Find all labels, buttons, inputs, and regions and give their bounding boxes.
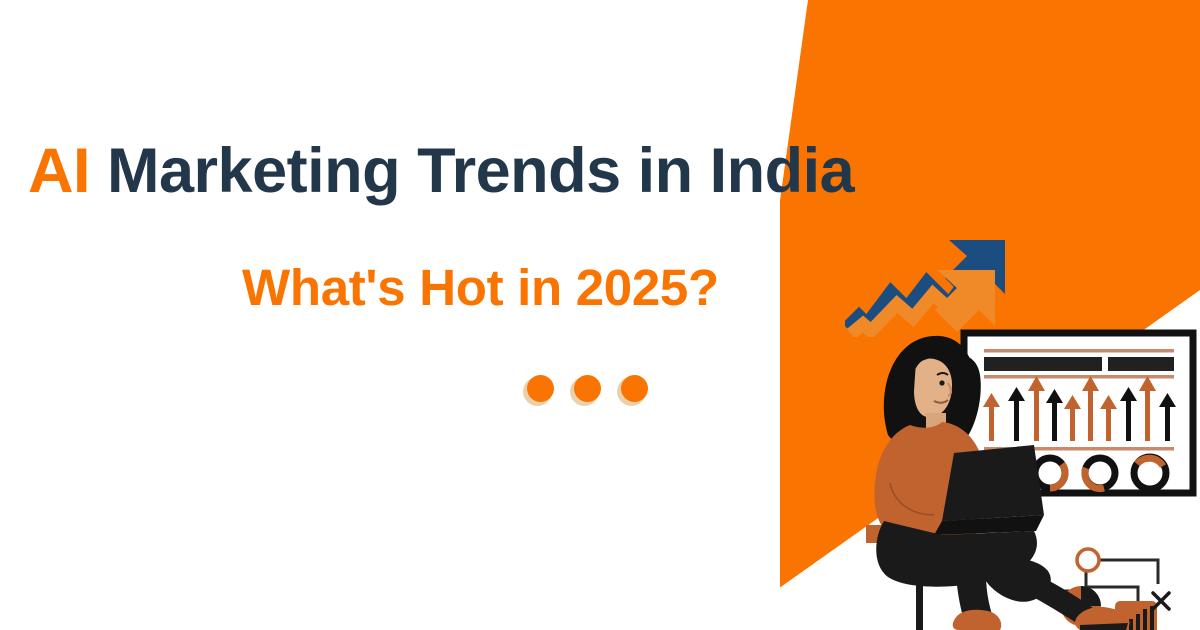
woman-with-laptop-illustration	[838, 325, 1200, 630]
title-rest: Marketing Trends in India	[107, 136, 854, 206]
shoe-icon	[953, 607, 1130, 630]
page-subtitle: What's Hot in 2025?	[242, 262, 719, 313]
rising-trend-arrows-icon	[845, 232, 1010, 337]
poster-canvas: AI Marketing Trends in India What's Hot …	[0, 0, 1200, 630]
title-accent-ai: AI	[28, 136, 90, 206]
dot-icon-3	[619, 375, 648, 404]
dot-icon-2	[572, 375, 601, 404]
circle-outline-icon	[1077, 549, 1099, 571]
dot-icon-1	[525, 375, 554, 404]
page-title: AI Marketing Trends in India	[28, 140, 854, 203]
decorative-dots	[525, 375, 648, 404]
close-x-icon	[1153, 593, 1169, 609]
title-space	[90, 136, 107, 206]
